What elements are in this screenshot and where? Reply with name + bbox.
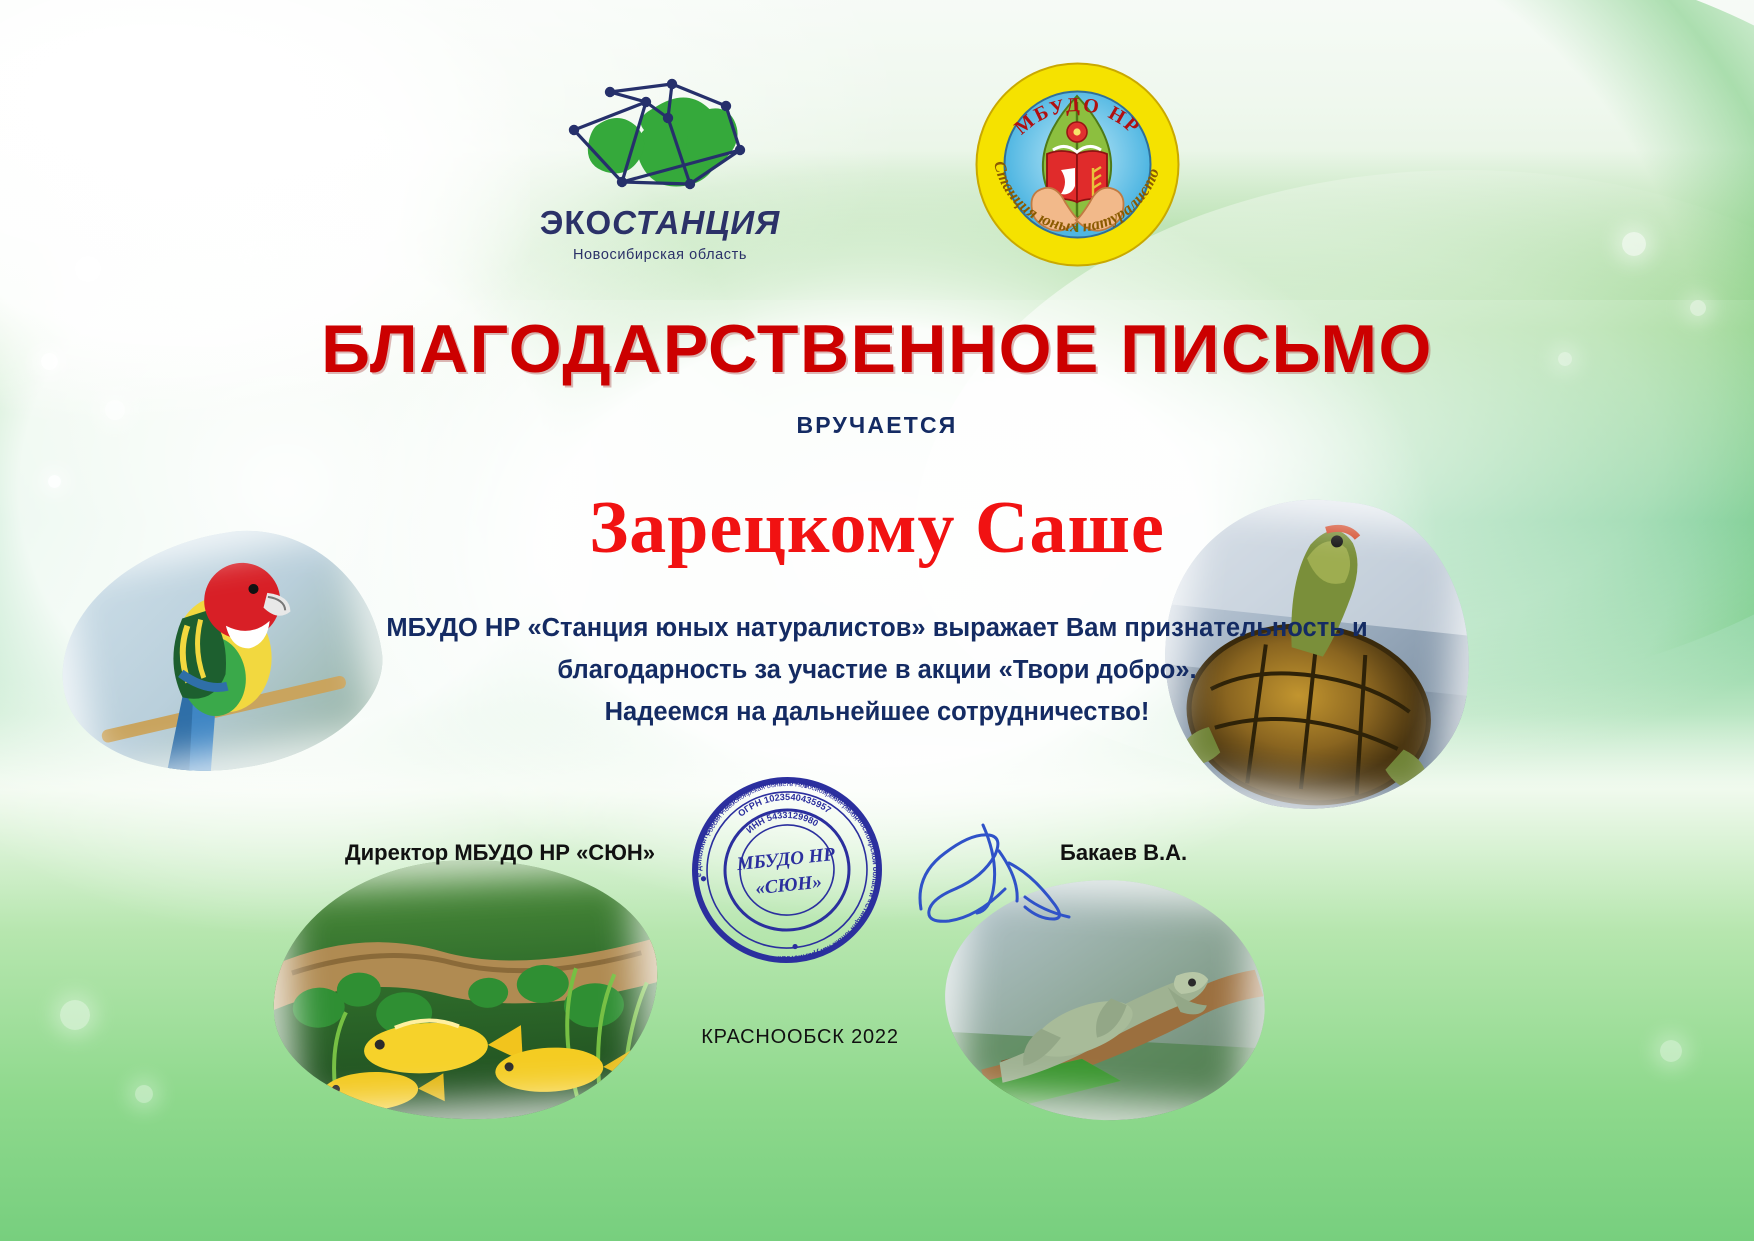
certificate-body: БЛАГОДАРСТВЕННОЕ ПИСЬМО ВРУЧАЕТСЯ Зарецк… (0, 0, 1754, 1241)
director-name: Бакаев В.А. (1060, 840, 1360, 866)
body-text: МБУДО НР «Станция юных натуралистов» выр… (277, 607, 1477, 733)
director-title: Директор МБУДО НР «СЮН» (300, 840, 700, 866)
page-title: БЛАГОДАРСТВЕННОЕ ПИСЬМО (0, 310, 1754, 388)
body-line-1: МБУДО НР «Станция юных натуралистов» выр… (277, 607, 1477, 649)
awarded-label: ВРУЧАЕТСЯ (0, 412, 1754, 439)
body-line-2: благодарность за участие в акции «Твори … (277, 649, 1477, 691)
stamp-center-line-2: «СЮН» (754, 871, 822, 899)
recipient-name: Зарецкому Саше (0, 486, 1754, 571)
footer-place-year: КРАСНООБСК 2022 (560, 1026, 1040, 1049)
handwritten-signature-icon (905, 805, 1105, 935)
body-line-3: Надеемся на дальнейшее сотрудничество! (277, 691, 1477, 733)
certificate-page: ЭКОСТАНЦИЯ Новосибирская область (0, 0, 1754, 1241)
official-round-stamp: Муниципальное бюджетное учреждение допол… (672, 775, 902, 965)
stamp-center-line-1: МБУДО НР (735, 844, 837, 875)
